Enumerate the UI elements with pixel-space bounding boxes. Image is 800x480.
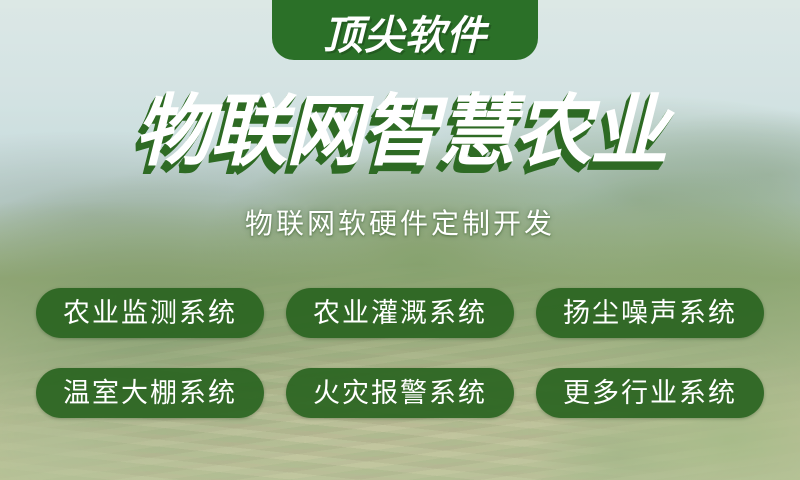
page-title: 物联网智慧农业 [0, 92, 800, 170]
pill-label: 农业灌溉系统 [313, 300, 487, 327]
pill-label: 扬尘噪声系统 [563, 300, 737, 327]
promo-banner: 顶尖软件 物联网智慧农业 物联网软硬件定制开发 农业监测系统 农业灌溉系统 扬尘… [0, 0, 800, 480]
pill-more-industry-systems[interactable]: 更多行业系统 [536, 368, 764, 418]
pill-agriculture-irrigation[interactable]: 农业灌溉系统 [286, 288, 514, 338]
system-pill-row-1: 农业监测系统 农业灌溉系统 扬尘噪声系统 [36, 288, 764, 338]
page-subtitle: 物联网软硬件定制开发 [0, 207, 800, 241]
pill-agriculture-monitoring[interactable]: 农业监测系统 [36, 288, 264, 338]
background-terraces-upper [0, 200, 800, 480]
pill-dust-noise[interactable]: 扬尘噪声系统 [536, 288, 764, 338]
pill-label: 温室大棚系统 [63, 380, 237, 407]
pill-greenhouse[interactable]: 温室大棚系统 [36, 368, 264, 418]
pill-label: 火灾报警系统 [313, 380, 487, 407]
system-pill-row-2: 温室大棚系统 火灾报警系统 更多行业系统 [36, 368, 764, 418]
brand-badge: 顶尖软件 [272, 0, 538, 60]
brand-badge-label: 顶尖软件 [323, 16, 487, 56]
pill-label: 农业监测系统 [63, 300, 237, 327]
pill-fire-alarm[interactable]: 火灾报警系统 [286, 368, 514, 418]
pill-label: 更多行业系统 [563, 380, 737, 407]
